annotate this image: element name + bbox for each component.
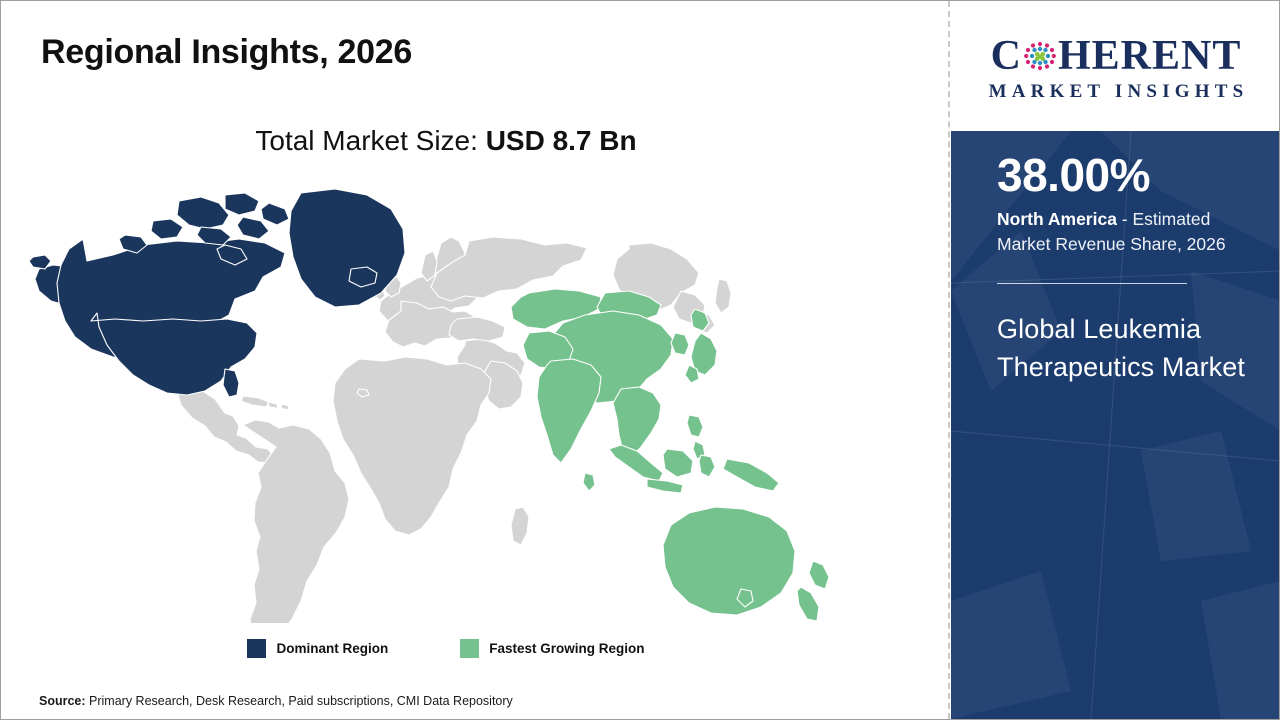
stat-panel-content: 38.00% North America - Estimated Market … bbox=[997, 151, 1265, 387]
logo-tagline: MARKET INSIGHTS bbox=[984, 81, 1249, 103]
logo-wordmark: C bbox=[991, 35, 1242, 77]
stat-caption: North America - Estimated Market Revenue… bbox=[997, 207, 1259, 257]
report-title: Global Leukemia Therapeutics Market bbox=[997, 310, 1265, 387]
regional-insights-infographic: Regional Insights, 2026 Total Market Siz… bbox=[0, 0, 1280, 720]
stat-region-name: North America bbox=[997, 209, 1117, 229]
world-map-svg bbox=[29, 183, 839, 623]
logo-letter-c: C bbox=[991, 35, 1022, 77]
map-panel: Regional Insights, 2026 Total Market Siz… bbox=[1, 1, 949, 719]
legend-item-fastest-growing: Fastest Growing Region bbox=[460, 639, 644, 658]
globe-icon bbox=[1023, 38, 1057, 74]
source-label: Source: bbox=[39, 694, 86, 708]
panel-horizontal-rule bbox=[997, 283, 1187, 284]
stat-panel: 38.00% North America - Estimated Market … bbox=[951, 131, 1280, 719]
page-title: Regional Insights, 2026 bbox=[41, 33, 412, 72]
map-legend: Dominant Region Fastest Growing Region bbox=[1, 639, 891, 658]
market-size-value: USD 8.7 Bn bbox=[486, 125, 637, 156]
source-text: Primary Research, Desk Research, Paid su… bbox=[89, 694, 513, 708]
stat-percentage: 38.00% bbox=[997, 151, 1265, 199]
panel-divider-dashed bbox=[948, 1, 950, 719]
legend-item-dominant: Dominant Region bbox=[247, 639, 388, 658]
company-logo: C bbox=[951, 1, 1280, 131]
total-market-size: Total Market Size: USD 8.7 Bn bbox=[1, 125, 891, 157]
legend-swatch-fastest-growing bbox=[460, 639, 479, 658]
source-note: Source: Primary Research, Desk Research,… bbox=[39, 694, 513, 708]
map-region-fastest-growing bbox=[511, 289, 829, 621]
logo-letters-herent: HERENT bbox=[1058, 35, 1241, 77]
legend-swatch-dominant bbox=[247, 639, 266, 658]
world-map bbox=[29, 183, 839, 623]
legend-label-dominant: Dominant Region bbox=[276, 641, 388, 656]
market-size-label: Total Market Size: bbox=[255, 125, 478, 156]
legend-label-fastest-growing: Fastest Growing Region bbox=[489, 641, 644, 656]
